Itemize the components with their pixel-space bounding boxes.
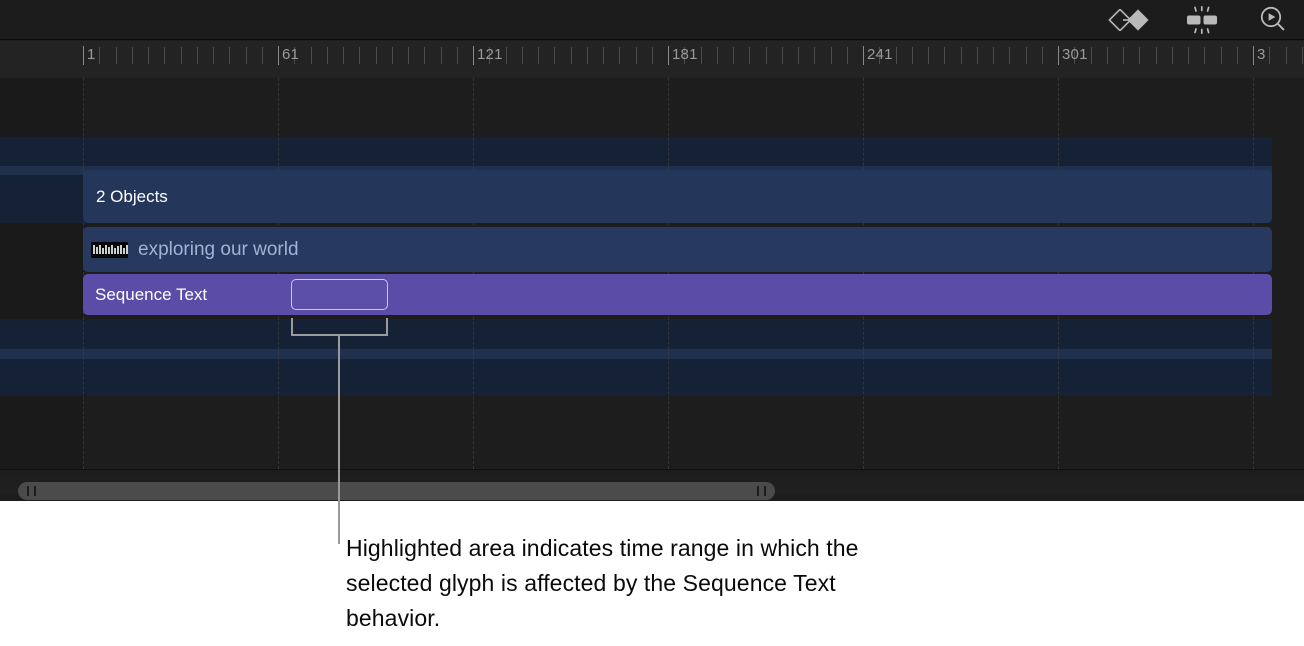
- ruler-minor-tick: [977, 47, 978, 64]
- ruler-minor-tick: [733, 47, 734, 64]
- ruler-major-tick: [278, 46, 279, 65]
- ruler-label: 181: [672, 45, 698, 65]
- ruler-minor-tick: [1204, 47, 1205, 64]
- ruler-minor-tick: [603, 47, 604, 64]
- ruler-minor-tick: [506, 47, 507, 64]
- ruler-minor-tick: [961, 47, 962, 64]
- track-band-below-b: [0, 359, 1272, 396]
- ruler-minor-tick: [376, 47, 377, 64]
- ruler-minor-tick: [554, 47, 555, 64]
- ruler-minor-tick: [408, 47, 409, 64]
- behavior-track-bar[interactable]: Sequence Text: [83, 274, 1272, 315]
- ruler-minor-tick: [132, 47, 133, 64]
- ruler-minor-tick: [197, 47, 198, 64]
- ruler-minor-tick: [1123, 47, 1124, 64]
- ruler-label: 241: [867, 45, 893, 65]
- ruler-minor-tick: [814, 47, 815, 64]
- track-band-empty-bottom: [0, 396, 1272, 469]
- ruler-minor-tick: [944, 47, 945, 64]
- ruler-minor-tick: [1139, 47, 1140, 64]
- ruler-minor-tick: [359, 47, 360, 64]
- timeline-window: 1611211812413013: [0, 0, 1304, 501]
- ruler-minor-tick: [311, 47, 312, 64]
- time-range-highlight[interactable]: [291, 279, 388, 310]
- ruler-major-tick: [83, 46, 84, 65]
- ruler-minor-tick: [717, 47, 718, 64]
- ruler-label: 3: [1257, 45, 1266, 65]
- ruler-minor-tick: [343, 47, 344, 64]
- ruler-minor-tick: [798, 47, 799, 64]
- track-band-project: [0, 137, 1272, 166]
- ruler-minor-tick: [262, 47, 263, 64]
- ruler-minor-tick: [327, 47, 328, 64]
- ruler-minor-tick: [652, 47, 653, 64]
- ruler-minor-tick: [587, 47, 588, 64]
- ruler-minor-tick: [181, 47, 182, 64]
- ruler-label: 121: [477, 45, 503, 65]
- ruler-label: 301: [1062, 45, 1088, 65]
- track-band-empty-top: [0, 78, 1272, 137]
- ruler-major-tick: [668, 46, 669, 65]
- timeline-ruler[interactable]: 1611211812413013: [0, 41, 1304, 78]
- scrollbar-grip-left: [27, 486, 36, 496]
- ruler-minor-tick: [912, 47, 913, 64]
- ruler-minor-tick: [766, 47, 767, 64]
- ruler-minor-tick: [847, 47, 848, 64]
- ruler-minor-tick: [1026, 47, 1027, 64]
- ruler-left-padding: [0, 41, 83, 78]
- ruler-major-tick: [1058, 46, 1059, 65]
- ruler-minor-tick: [571, 47, 572, 64]
- keyframe-link-icon[interactable]: [1108, 3, 1152, 37]
- ruler-minor-tick: [441, 47, 442, 64]
- track-header-column: [0, 223, 83, 319]
- timeline-toolbar: [0, 0, 1304, 40]
- thumbnail-glyphs: [93, 245, 128, 254]
- callout-leader-line: [338, 334, 340, 544]
- ruler-minor-tick: [99, 47, 100, 64]
- ruler-minor-tick: [213, 47, 214, 64]
- ruler-major-tick: [473, 46, 474, 65]
- ruler-minor-tick: [522, 47, 523, 64]
- scrollbar-area: [0, 469, 1304, 501]
- ruler-minor-tick: [1172, 47, 1173, 64]
- ruler-minor-tick: [993, 47, 994, 64]
- ruler-tick-marks: 1611211812413013: [83, 41, 1304, 78]
- ruler-minor-tick: [392, 47, 393, 64]
- track-header-column-bottom: [0, 396, 83, 469]
- gridline-frame-1: [83, 78, 84, 469]
- group-track-bar[interactable]: 2 Objects: [83, 170, 1272, 223]
- timeline-track-area: 2 Objects exploring our world Sequence T…: [0, 78, 1304, 469]
- ruler-minor-tick: [619, 47, 620, 64]
- highlight-burst-icon[interactable]: [1180, 3, 1224, 37]
- ruler-minor-tick: [1009, 47, 1010, 64]
- ruler-minor-tick: [148, 47, 149, 64]
- ruler-minor-tick: [1237, 47, 1238, 64]
- ruler-minor-tick: [749, 47, 750, 64]
- scrollbar-track[interactable]: [0, 476, 1304, 494]
- track-band-below-highlight: [0, 349, 1272, 359]
- ruler-minor-tick: [164, 47, 165, 64]
- ruler-minor-tick: [1286, 47, 1287, 64]
- scrollbar-grip-right: [757, 486, 766, 496]
- ruler-minor-tick: [116, 47, 117, 64]
- ruler-minor-tick: [1156, 47, 1157, 64]
- ruler-minor-tick: [457, 47, 458, 64]
- ruler-minor-tick: [246, 47, 247, 64]
- ruler-minor-tick: [1302, 47, 1303, 64]
- ruler-minor-tick: [1107, 47, 1108, 64]
- ruler-minor-tick: [1091, 47, 1092, 64]
- ruler-minor-tick: [229, 47, 230, 64]
- ruler-minor-tick: [896, 47, 897, 64]
- screenshot-root: 1611211812413013: [0, 0, 1304, 646]
- ruler-major-tick: [1253, 46, 1254, 65]
- ruler-minor-tick: [701, 47, 702, 64]
- track-band-below-a: [0, 319, 1272, 349]
- ruler-label: 1: [87, 45, 96, 65]
- ruler-minor-tick: [538, 47, 539, 64]
- ruler-label: 61: [282, 45, 299, 65]
- text-layer-thumbnail: [91, 242, 128, 258]
- callout-caption: Highlighted area indicates time range in…: [346, 531, 886, 636]
- ruler-minor-tick: [928, 47, 929, 64]
- ruler-minor-tick: [1221, 47, 1222, 64]
- ruler-minor-tick: [831, 47, 832, 64]
- object-track-bar[interactable]: exploring our world: [83, 227, 1272, 272]
- ruler-minor-tick: [1042, 47, 1043, 64]
- ruler-minor-tick: [1269, 47, 1270, 64]
- toolbar-icon-group: [1108, 0, 1296, 40]
- group-track-label: 2 Objects: [96, 187, 168, 207]
- ruler-minor-tick: [782, 47, 783, 64]
- ruler-major-tick: [863, 46, 864, 65]
- horizontal-scrollbar-thumb[interactable]: [18, 482, 775, 500]
- object-track-label: exploring our world: [138, 239, 299, 261]
- behavior-track-label: Sequence Text: [95, 285, 207, 305]
- track-right-gutter: [1272, 78, 1304, 469]
- track-header-column-top: [0, 78, 83, 137]
- ruler-minor-tick: [424, 47, 425, 64]
- ruler-minor-tick: [1188, 47, 1189, 64]
- magnifier-play-icon[interactable]: [1252, 3, 1296, 37]
- ruler-minor-tick: [636, 47, 637, 64]
